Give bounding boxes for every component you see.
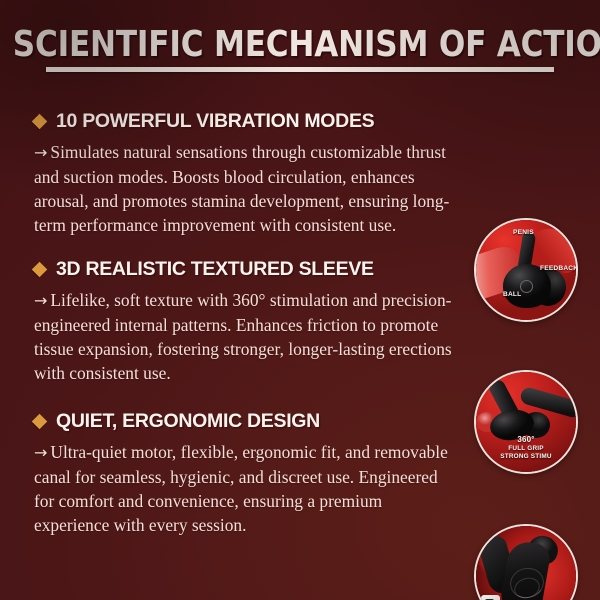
arrow-icon: → [34, 443, 50, 462]
photo-label-feedback: FEEDBACK [540, 265, 578, 272]
title-underline [46, 67, 554, 72]
photo-label-penis: PENIS [513, 229, 534, 236]
feature-heading: 3D REALISTIC TEXTURED SLEEVE [56, 258, 374, 281]
diamond-icon [32, 262, 48, 278]
photo-caption-line-3: STRONG STIMU [500, 453, 551, 460]
arrow-icon: → [34, 143, 50, 162]
photo-scene [476, 526, 576, 600]
feature-section-textured-sleeve: 3D REALISTIC TEXTURED SLEEVE →Lifelike, … [34, 258, 452, 385]
product-photo-vibration-modes: PENIS FEEDBACK BALL [474, 218, 578, 322]
feature-body-text: Simulates natural sensations through cus… [34, 142, 449, 235]
photo-shape-ring [520, 280, 533, 293]
feature-body: →Simulates natural sensations through cu… [34, 140, 452, 237]
feature-heading: QUIET, ERGONOMIC DESIGN [56, 410, 320, 433]
feature-heading-row: QUIET, ERGONOMIC DESIGN [34, 410, 452, 433]
product-photo-textured-sleeve: 360° FULL GRIP STRONG STIMU [474, 370, 578, 474]
photo-caption: 360° FULL GRIP STRONG STIMU [476, 436, 576, 461]
content-area: 10 POWERFUL VIBRATION MODES →Simulates n… [0, 102, 600, 600]
photo-shape-remote [481, 595, 500, 600]
page-title: SCIENTIFIC MECHANISM OF ACTION [13, 26, 600, 64]
poster-canvas: SCIENTIFIC MECHANISM OF ACTION 10 POWERF… [0, 0, 600, 600]
feature-heading-row: 3D REALISTIC TEXTURED SLEEVE [34, 258, 452, 281]
photo-caption-line-1: 360° [476, 436, 576, 444]
page-title-block: SCIENTIFIC MECHANISM OF ACTION [0, 26, 600, 72]
product-photo-ergonomic-design [474, 524, 578, 600]
photo-caption-line-2: FULL GRIP [508, 445, 543, 452]
diamond-icon [32, 414, 48, 430]
photo-label-ball: BALL [503, 291, 521, 298]
feature-body: →Lifelike, soft texture with 360° stimul… [34, 288, 452, 385]
feature-heading: 10 POWERFUL VIBRATION MODES [56, 110, 374, 133]
arrow-icon: → [34, 291, 50, 310]
feature-body-text: Ultra-quiet motor, flexible, ergonomic f… [34, 442, 448, 535]
feature-heading-row: 10 POWERFUL VIBRATION MODES [34, 110, 452, 133]
feature-body-text: Lifelike, soft texture with 360° stimula… [34, 290, 452, 383]
diamond-icon [32, 114, 48, 130]
feature-body: →Ultra-quiet motor, flexible, ergonomic … [34, 440, 452, 537]
photo-scene: PENIS FEEDBACK BALL [476, 220, 576, 320]
photo-scene: 360° FULL GRIP STRONG STIMU [476, 372, 576, 472]
feature-section-ergonomic-design: QUIET, ERGONOMIC DESIGN →Ultra-quiet mot… [34, 410, 452, 537]
feature-section-vibration-modes: 10 POWERFUL VIBRATION MODES →Simulates n… [34, 110, 452, 237]
